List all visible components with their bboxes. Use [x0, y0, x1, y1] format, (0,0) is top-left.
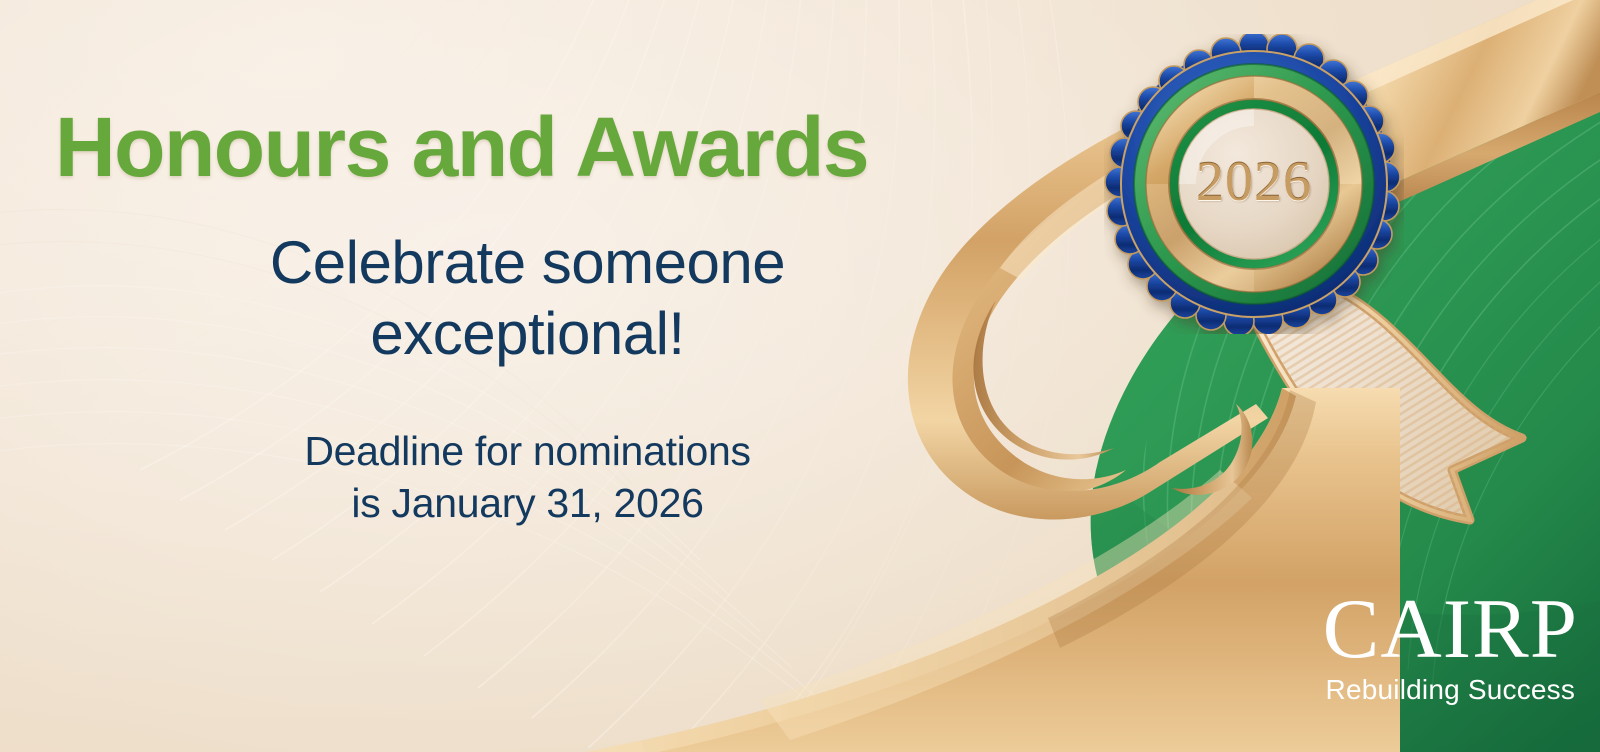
cairp-logo: CAIRP Rebuilding Success	[1323, 587, 1578, 704]
logo-tagline: Rebuilding Success	[1323, 676, 1578, 704]
logo-wordmark: CAIRP	[1323, 587, 1578, 672]
honours-awards-banner: 2026 Honours and Awards Celebrate someon…	[0, 0, 1600, 752]
award-rosette-icon: 2026	[1104, 34, 1404, 334]
